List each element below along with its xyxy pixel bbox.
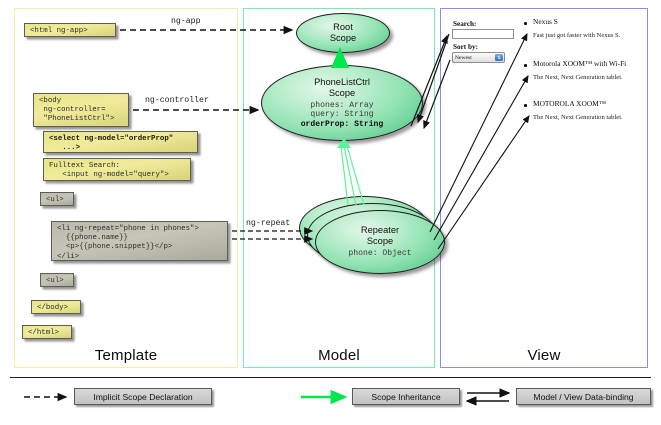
code-box-html-tag: <html ng-app> [24,23,116,37]
legend-item-scope-inheritance: Scope Inheritance [352,388,460,405]
list-item: Motorola XOOM™ with Wi-Fi The Next, Next… [533,59,626,81]
scope-prop-phones: phones: Array [310,101,373,110]
list-bullet [524,22,527,25]
code-box-body-close: </body> [31,300,81,314]
code-box-li-repeat: <li ng-repeat="phone in phones"> {{phone… [51,221,228,261]
scope-phonelistctrl-title: PhoneListCtrlScope [314,77,370,99]
legend-item-data-binding: Model / View Data-binding [516,388,651,405]
chevron-updown-icon[interactable]: ⇅ [495,54,503,61]
list-item: MOTOROLA XOOM™ The Next, Next Generation… [533,99,623,121]
scope-phonelistctrl-props: phones: Array query: String orderProp: S… [301,101,384,130]
scope-repeater-props: phone: Object [348,249,411,259]
view-search-input[interactable] [452,29,514,39]
code-box-search-input: Fulltext Search: <input ng-model="query"… [43,158,191,181]
panel-model-label: Model [244,347,434,364]
phone-snippet: Fast just got faster with Nexus S. [533,32,620,39]
code-box-ul-close: <ul> [40,273,74,287]
code-box-select-tag: <select ng-model="orderProp" ...> [43,131,198,153]
list-bullet [524,104,527,107]
view-sort-select[interactable]: Newest ⇅ [452,52,505,63]
legend-item-implicit-scope: Implicit Scope Declaration [74,388,212,405]
scope-repeater: RepeaterScope phone: Object [315,210,445,274]
code-box-body-tag: <body ng-controller= "PhoneListCtrl"> [33,93,129,127]
panel-template-label: Template [15,347,237,364]
list-bullet [524,64,527,67]
scope-phonelistctrl: PhoneListCtrlScope phones: Array query: … [261,65,423,141]
phone-name: MOTOROLA XOOM™ [533,99,623,108]
scope-repeater-title: RepeaterScope [361,225,399,247]
view-sort-label: Sort by: [453,43,478,51]
panel-view-label: View [441,347,647,364]
code-box-html-close: </html> [22,325,72,339]
view-search-label: Search: [453,20,476,28]
edge-label-ng-controller: ng-controller [145,96,209,105]
scope-prop-orderprop: orderProp: String [301,120,384,129]
code-box-ul-open: <ul> [40,192,74,206]
phone-name: Motorola XOOM™ with Wi-Fi [533,59,626,68]
phone-name: Nexus S [533,17,620,26]
scope-root-title: RootScope [330,22,356,44]
scope-prop-query: query: String [310,110,373,119]
edge-label-ng-app: ng-app [171,17,200,26]
phone-snippet: The Next, Next Generation tablet. [533,114,623,121]
edge-label-ng-repeat: ng-repeat [246,219,290,228]
panel-template: Template [14,8,238,368]
phone-snippet: The Next, Next Generation tablet. [533,74,626,81]
legend-divider [10,377,651,378]
diagram-canvas: Template Model View <html ng-app> <body … [0,0,661,425]
panel-model: Model [243,8,435,368]
scope-root: RootScope [296,13,390,53]
list-item: Nexus S Fast just got faster with Nexus … [533,17,620,39]
view-sort-value: Newest [455,55,472,61]
